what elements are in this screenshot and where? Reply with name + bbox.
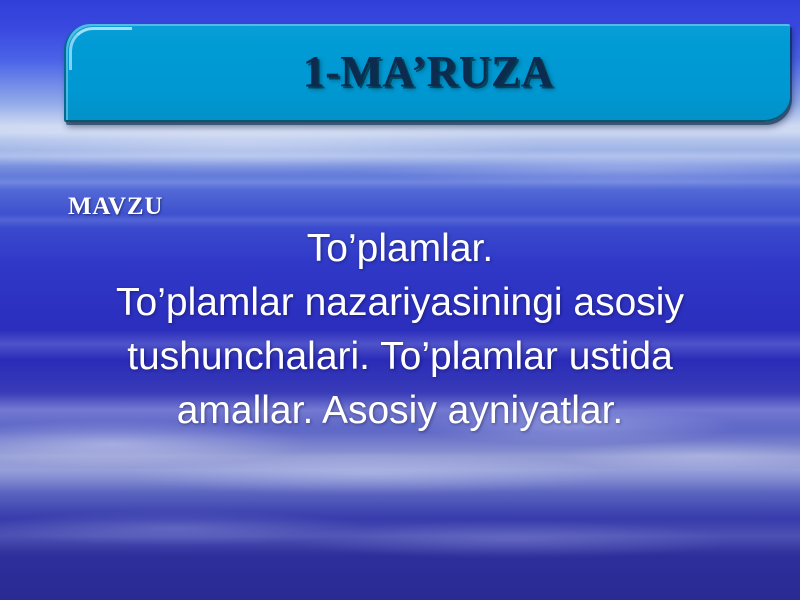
slide-canvas: 1-MA’RUZA MAVZU To’plamlar. To’plamlar n… <box>0 0 800 600</box>
title-banner: 1-MA’RUZA <box>64 24 790 122</box>
banner-corner-highlight <box>69 27 132 70</box>
page-title: 1-MA’RUZA <box>303 50 554 94</box>
mavzu-label: MAVZU <box>68 193 163 221</box>
slide-body-text: To’plamlar. To’plamlar nazariyasiningi a… <box>30 222 770 438</box>
